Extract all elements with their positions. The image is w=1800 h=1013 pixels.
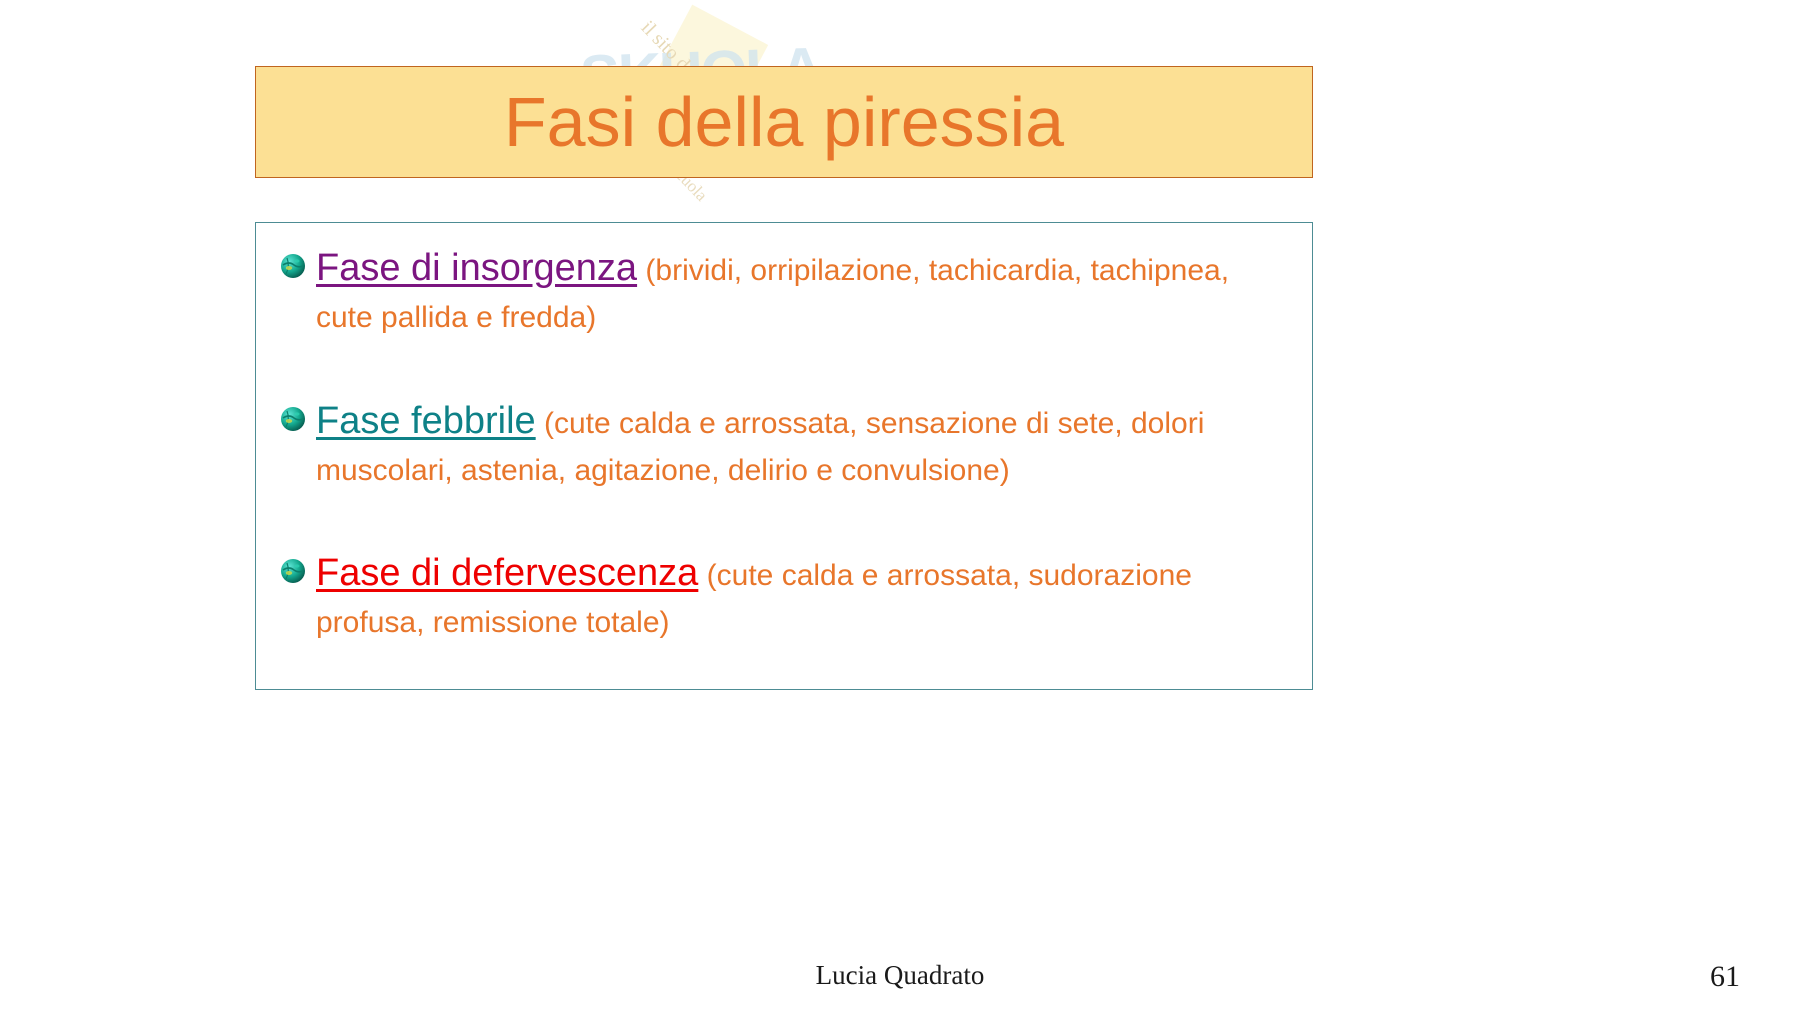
phase-title: Fase di insorgenza (316, 247, 637, 289)
list-item-text: Fase di defervescenza (cute calda e arro… (316, 546, 1288, 645)
page-number: 61 (1710, 960, 1740, 994)
list-item: Fase di insorgenza (brividi, orripilazio… (280, 241, 1288, 340)
globe-icon (280, 558, 306, 584)
phase-title: Fase febbrile (316, 400, 536, 442)
list-item: Fase febbrile (cute calda e arrossata, s… (280, 394, 1288, 493)
list-item-text: Fase febbrile (cute calda e arrossata, s… (316, 394, 1288, 493)
slide-title-banner: Fasi della piressia (255, 66, 1313, 178)
footer-author: Lucia Quadrato (0, 960, 1800, 991)
page-title: Fasi della piressia (504, 87, 1064, 157)
globe-icon (280, 406, 306, 432)
slide-content-box: Fase di insorgenza (brividi, orripilazio… (255, 222, 1313, 690)
globe-icon (280, 253, 306, 279)
list-item: Fase di defervescenza (cute calda e arro… (280, 546, 1288, 645)
list-item-text: Fase di insorgenza (brividi, orripilazio… (316, 241, 1288, 340)
phase-title: Fase di defervescenza (316, 552, 698, 594)
